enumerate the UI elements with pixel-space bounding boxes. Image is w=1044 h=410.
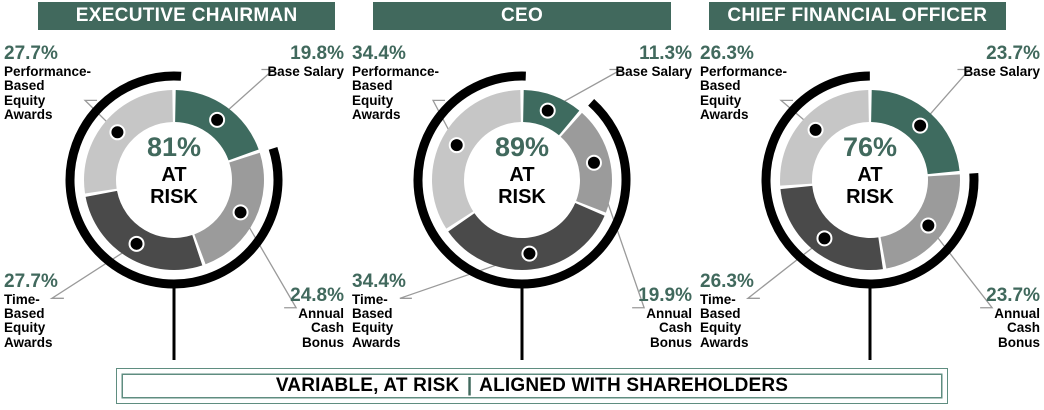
label-line: Based bbox=[4, 307, 58, 321]
banner-text-right: ALIGNED WITH SHAREHOLDERS bbox=[479, 375, 788, 396]
label-performance-based-equity: 27.7%Performance-BasedEquityAwards bbox=[4, 44, 91, 122]
label-line: Equity bbox=[352, 321, 406, 335]
center-label-risk: RISK bbox=[750, 186, 990, 208]
label-line: Base Salary bbox=[963, 65, 1040, 79]
label-line: Performance- bbox=[700, 65, 787, 79]
label-percent: 27.7% bbox=[4, 272, 58, 292]
label-percent: 34.4% bbox=[352, 272, 406, 292]
compensation-panel: 81%ATRISK19.8%Base Salary24.8%AnnualCash… bbox=[0, 30, 348, 360]
label-percent: 34.4% bbox=[352, 44, 439, 64]
label-line: Time- bbox=[352, 293, 406, 307]
label-annual-cash-bonus: 23.7%AnnualCashBonus bbox=[986, 286, 1040, 350]
label-line: Based bbox=[700, 307, 754, 321]
label-line: Annual bbox=[638, 307, 692, 321]
label-percent: 23.7% bbox=[963, 44, 1040, 64]
label-line: Bonus bbox=[638, 336, 692, 350]
label-time-based-equity: 27.7%Time-BasedEquityAwards bbox=[4, 272, 58, 350]
chart-title-executive-chairman: EXECUTIVE CHAIRMAN bbox=[38, 2, 335, 30]
label-line: Awards bbox=[4, 108, 91, 122]
label-line: Cash bbox=[638, 321, 692, 335]
label-base-salary: 19.8%Base Salary bbox=[267, 44, 344, 79]
center-at-risk-percent: 76% bbox=[750, 134, 990, 161]
label-line: Awards bbox=[352, 108, 439, 122]
label-line: Equity bbox=[700, 321, 754, 335]
compensation-mix-infographic: EXECUTIVE CHAIRMAN CEO CHIEF FINANCIAL O… bbox=[0, 0, 1044, 410]
label-percent: 24.8% bbox=[290, 286, 344, 306]
slice-marker-dot bbox=[921, 219, 935, 233]
slice-marker-dot bbox=[817, 231, 831, 245]
label-percent: 26.3% bbox=[700, 44, 787, 64]
center-label-risk: RISK bbox=[54, 186, 294, 208]
banner-text-left: VARIABLE, AT RISK bbox=[276, 375, 460, 396]
label-line: Time- bbox=[4, 293, 58, 307]
label-time-based-equity: 26.3%Time-BasedEquityAwards bbox=[700, 272, 754, 350]
center-label-at: AT bbox=[54, 164, 294, 186]
label-line: Based bbox=[352, 307, 406, 321]
label-time-based-equity: 34.4%Time-BasedEquityAwards bbox=[352, 272, 406, 350]
label-base-salary: 11.3%Base Salary bbox=[615, 44, 692, 79]
label-line: Based bbox=[352, 79, 439, 93]
label-annual-cash-bonus: 19.9%AnnualCashBonus bbox=[638, 286, 692, 350]
compensation-panel: 89%ATRISK11.3%Base Salary19.9%AnnualCash… bbox=[348, 30, 696, 360]
center-label-at: AT bbox=[402, 164, 642, 186]
label-performance-based-equity: 34.4%Performance-BasedEquityAwards bbox=[352, 44, 439, 122]
label-annual-cash-bonus: 24.8%AnnualCashBonus bbox=[290, 286, 344, 350]
label-line: Awards bbox=[700, 108, 787, 122]
label-line: Performance- bbox=[352, 65, 439, 79]
center-at-risk-percent: 81% bbox=[54, 134, 294, 161]
banner-separator: | bbox=[465, 375, 475, 396]
label-line: Bonus bbox=[290, 336, 344, 350]
label-percent: 23.7% bbox=[986, 286, 1040, 306]
slice-marker-dot bbox=[541, 104, 555, 118]
center-label-risk: RISK bbox=[402, 186, 642, 208]
compensation-panel: 76%ATRISK23.7%Base Salary23.7%AnnualCash… bbox=[696, 30, 1044, 360]
summary-banner-text: VARIABLE, AT RISK | ALIGNED WITH SHAREHO… bbox=[276, 375, 788, 397]
label-line: Cash bbox=[290, 321, 344, 335]
label-percent: 19.9% bbox=[638, 286, 692, 306]
label-line: Equity bbox=[700, 94, 787, 108]
label-percent: 11.3% bbox=[615, 44, 692, 64]
label-line: Based bbox=[700, 79, 787, 93]
label-line: Awards bbox=[4, 336, 58, 350]
label-percent: 19.8% bbox=[267, 44, 344, 64]
chart-title-chief-financial-officer: CHIEF FINANCIAL OFFICER bbox=[709, 2, 1006, 30]
label-line: Equity bbox=[352, 94, 439, 108]
label-line: Base Salary bbox=[267, 65, 344, 79]
label-line: Base Salary bbox=[615, 65, 692, 79]
chart-titles-row: EXECUTIVE CHAIRMAN CEO CHIEF FINANCIAL O… bbox=[0, 2, 1044, 30]
summary-banner: VARIABLE, AT RISK | ALIGNED WITH SHAREHO… bbox=[116, 368, 948, 404]
center-at-risk-percent: 89% bbox=[402, 134, 642, 161]
label-percent: 26.3% bbox=[700, 272, 754, 292]
center-label-at: AT bbox=[750, 164, 990, 186]
slice-marker-dot bbox=[130, 237, 144, 251]
label-performance-based-equity: 26.3%Performance-BasedEquityAwards bbox=[700, 44, 787, 122]
label-line: Annual bbox=[986, 307, 1040, 321]
slice-marker-dot bbox=[913, 119, 927, 133]
label-line: Bonus bbox=[986, 336, 1040, 350]
label-line: Time- bbox=[700, 293, 754, 307]
label-line: Performance- bbox=[4, 65, 91, 79]
label-line: Awards bbox=[700, 336, 754, 350]
label-line: Awards bbox=[352, 336, 406, 350]
chart-title-ceo: CEO bbox=[373, 2, 670, 30]
label-line: Equity bbox=[4, 94, 91, 108]
label-line: Equity bbox=[4, 321, 58, 335]
slice-marker-dot bbox=[210, 113, 224, 127]
label-line: Cash bbox=[986, 321, 1040, 335]
label-line: Annual bbox=[290, 307, 344, 321]
slice-marker-dot bbox=[522, 247, 536, 261]
label-line: Based bbox=[4, 79, 91, 93]
label-base-salary: 23.7%Base Salary bbox=[963, 44, 1040, 79]
label-percent: 27.7% bbox=[4, 44, 91, 64]
